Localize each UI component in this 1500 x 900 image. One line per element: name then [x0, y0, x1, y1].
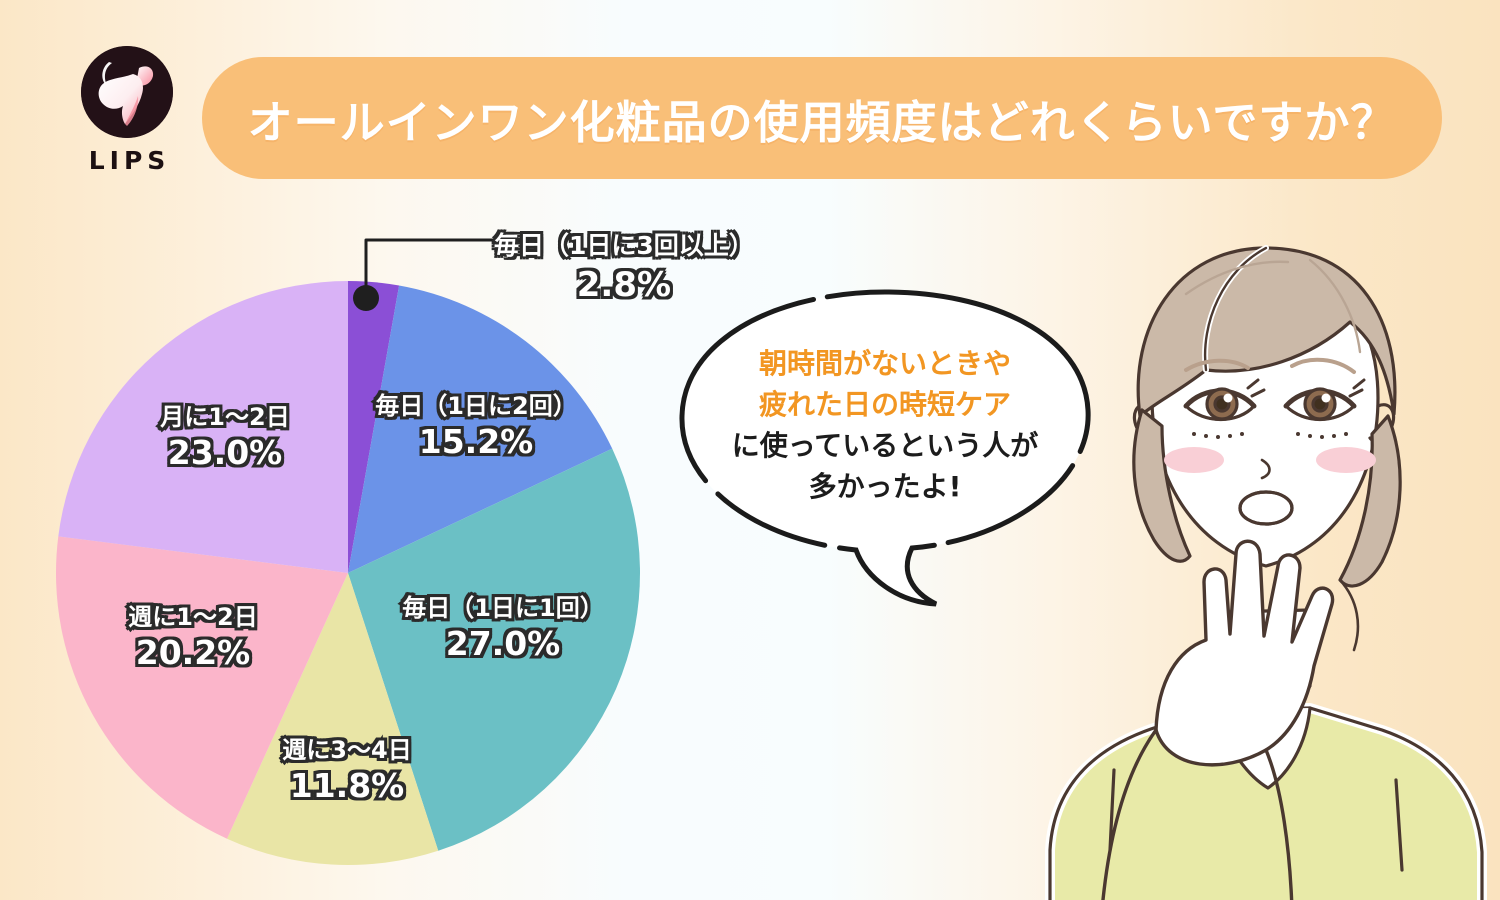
- pie-chart: 毎日（1日に2回） 15.2% 毎日（1日に1回） 27.0% 週に3〜4日 1…: [48, 278, 648, 878]
- pie-label-daily-2: 毎日（1日に2回） 15.2%: [366, 392, 586, 462]
- callout-dot: [353, 285, 379, 311]
- lips-deer-logo-icon: [81, 46, 173, 138]
- bubble-line-2: 疲れた日の時短ケア: [759, 388, 1011, 421]
- bubble-line-1: 朝時間がないときや: [759, 347, 1011, 380]
- brand-logo-block: LIPS: [66, 46, 188, 175]
- bubble-line-4: 多かったよ!: [809, 470, 962, 503]
- brand-name: LIPS: [66, 146, 188, 175]
- woman-hand-on-chin-illustration: [1010, 210, 1500, 900]
- pie-label-monthly-1-2: 月に1〜2日 23.0%: [130, 403, 320, 473]
- title-banner: オールインワン化粧品の使用頻度はどれくらいですか？: [202, 57, 1442, 179]
- pie-label-weekly-3-4: 週に3〜4日 11.8%: [252, 736, 442, 806]
- page-title: オールインワン化粧品の使用頻度はどれくらいですか？: [248, 86, 1397, 151]
- pie-label-weekly-1-2: 週に1〜2日 20.2%: [98, 603, 288, 673]
- infographic-canvas: LIPS オールインワン化粧品の使用頻度はどれくらいですか？ 毎日（1日に2回）…: [0, 0, 1500, 900]
- pie-label-daily-1: 毎日（1日に1回） 27.0%: [393, 594, 613, 664]
- bubble-line-3: に使っているという人が: [732, 429, 1039, 462]
